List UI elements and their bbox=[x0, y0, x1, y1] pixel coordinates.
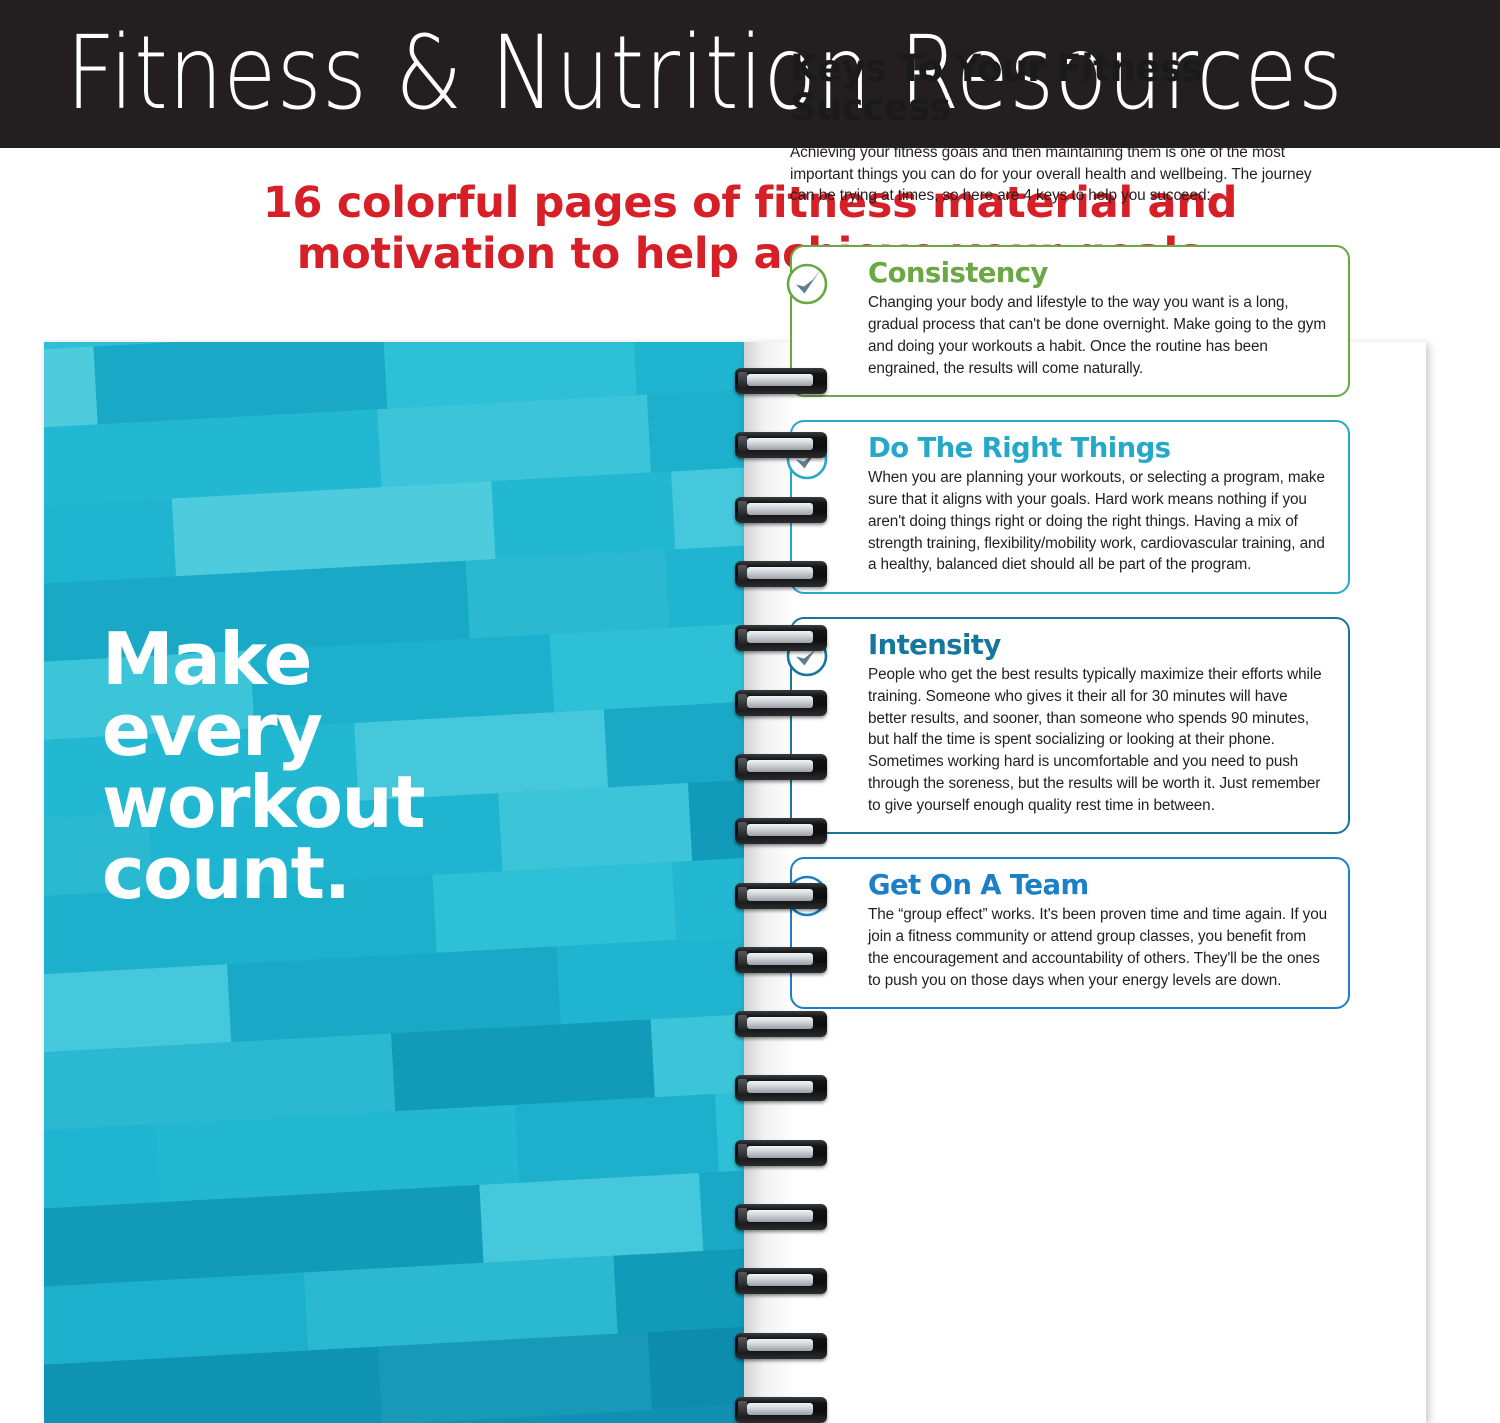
check-circle-icon bbox=[780, 257, 834, 311]
spiral-ring bbox=[735, 1333, 827, 1359]
cover-band bbox=[378, 1332, 652, 1423]
key-card: ConsistencyChanging your body and lifest… bbox=[790, 245, 1350, 397]
spiral-ring bbox=[735, 1075, 827, 1101]
page-intro-paragraph: Achieving your fitness goals and then ma… bbox=[790, 142, 1325, 208]
spiral-ring bbox=[735, 1140, 827, 1166]
key-card-body: When you are planning your workouts, or … bbox=[868, 467, 1330, 576]
spiral-ring bbox=[735, 1204, 827, 1230]
cover-band bbox=[479, 1173, 703, 1263]
key-card: IntensityPeople who get the best results… bbox=[790, 617, 1350, 834]
cover-headline-line-3: workout bbox=[102, 767, 602, 838]
key-card-body: The “group effect” works. It's been prov… bbox=[868, 904, 1330, 991]
spiral-ring bbox=[735, 690, 827, 716]
promotional-page: Fitness & Nutrition Resources 16 colorfu… bbox=[0, 0, 1500, 1423]
cover-headline: Make every workout count. bbox=[102, 624, 602, 909]
spiral-ring bbox=[735, 883, 827, 909]
cover-band bbox=[491, 471, 675, 559]
spiral-binding bbox=[689, 342, 849, 1423]
cover-band bbox=[391, 1019, 655, 1111]
spiral-ring bbox=[735, 497, 827, 523]
spiral-ring bbox=[735, 818, 827, 844]
key-card-list: ConsistencyChanging your body and lifest… bbox=[790, 245, 1350, 1009]
spiral-ring bbox=[735, 368, 827, 394]
key-card-title: Consistency bbox=[868, 259, 1330, 288]
key-card: Get On A TeamThe “group effect” works. I… bbox=[790, 857, 1350, 1009]
cover-band bbox=[377, 395, 651, 487]
key-card-title: Intensity bbox=[868, 631, 1330, 660]
key-card-title: Get On A Team bbox=[868, 871, 1330, 900]
cover-band bbox=[44, 964, 231, 1054]
spiral-ring bbox=[735, 1268, 827, 1294]
spiral-ring bbox=[735, 1011, 827, 1037]
spiral-ring bbox=[735, 754, 827, 780]
cover-headline-line-4: count. bbox=[102, 838, 602, 909]
key-card-title: Do The Right Things bbox=[868, 434, 1330, 463]
notebook-cover: Make every workout count. bbox=[44, 342, 744, 1423]
key-card: Do The Right ThingsWhen you are planning… bbox=[790, 420, 1350, 594]
cover-band bbox=[44, 347, 98, 431]
cover-headline-line-2: every bbox=[102, 695, 602, 766]
spiral-ring bbox=[735, 432, 827, 458]
page-title: Keys To Your Fitness Success bbox=[790, 50, 1350, 128]
key-card-body: People who get the best results typicall… bbox=[868, 664, 1330, 816]
cover-band bbox=[44, 1124, 160, 1209]
spiral-ring bbox=[735, 625, 827, 651]
spiral-ring bbox=[735, 947, 827, 973]
spiral-ring bbox=[735, 561, 827, 587]
key-card-body: Changing your body and lifestyle to the … bbox=[868, 292, 1330, 379]
cover-band bbox=[44, 499, 176, 587]
page-content: Keys To Your Fitness Success Achieving y… bbox=[790, 50, 1350, 1032]
spiral-ring bbox=[735, 1397, 827, 1423]
cover-headline-line-1: Make bbox=[102, 624, 602, 695]
